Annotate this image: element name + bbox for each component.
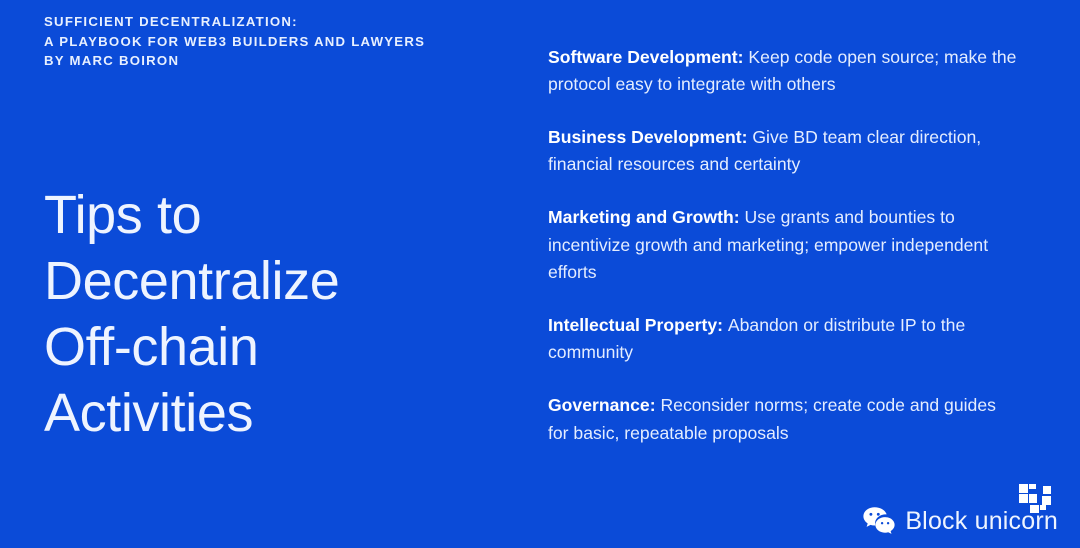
tip-label-intellectual-property: Intellectual Property: [548, 315, 728, 335]
wechat-icon [862, 506, 896, 536]
list-item: Marketing and Growth: Use grants and bou… [548, 204, 1018, 286]
source-author: BY MARC BOIRON [44, 51, 514, 71]
source-attribution: SUFFICIENT DECENTRALIZATION: A PLAYBOOK … [44, 12, 514, 71]
page-title-line-2: Decentralize [44, 248, 514, 314]
page-title-line-1: Tips to [44, 182, 514, 248]
list-item: Governance: Reconsider norms; create cod… [548, 392, 1018, 446]
watermark-label: Block unicorn [905, 506, 1058, 536]
tip-label-software-development: Software Development: [548, 47, 748, 67]
list-item: Intellectual Property: Abandon or distri… [548, 312, 1018, 366]
source-title: SUFFICIENT DECENTRALIZATION: [44, 12, 514, 32]
list-item: Software Development: Keep code open sou… [548, 44, 1018, 98]
tip-label-marketing-and-growth: Marketing and Growth: [548, 207, 744, 227]
tip-label-business-development: Business Development: [548, 127, 752, 147]
source-subtitle: A PLAYBOOK FOR WEB3 BUILDERS AND LAWYERS [44, 32, 514, 52]
list-item: Business Development: Give BD team clear… [548, 124, 1018, 178]
tip-label-governance: Governance: [548, 395, 660, 415]
slide-canvas: SUFFICIENT DECENTRALIZATION: A PLAYBOOK … [0, 0, 1080, 548]
page-title: Tips to Decentralize Off-chain Activitie… [44, 182, 514, 446]
watermark: Block unicorn [862, 501, 1058, 541]
page-title-line-3: Off-chain [44, 314, 514, 380]
page-title-line-4: Activities [44, 380, 514, 446]
left-column: SUFFICIENT DECENTRALIZATION: A PLAYBOOK … [44, 0, 514, 548]
tips-list: Software Development: Keep code open sou… [548, 26, 1018, 447]
